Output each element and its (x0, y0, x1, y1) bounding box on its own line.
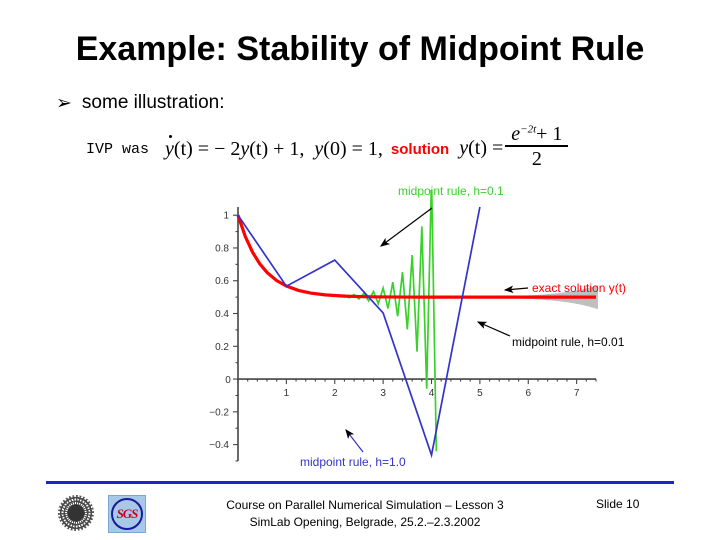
initial-condition: y(0) = 1, (314, 138, 383, 161)
sol-eq: (t) = (468, 137, 503, 159)
ode-body: (t) = − 2 (174, 138, 240, 160)
ic-body: (0) = 1, (323, 138, 383, 160)
stability-plot: 01234567 −0.4−0.20.20.40.60.81 (200, 190, 600, 475)
svg-text:7: 7 (574, 388, 580, 399)
equation-row: IVP was y(t) = − 2y(t) + 1, y(0) = 1, so… (86, 126, 570, 173)
sgs-emblem-logo-icon: SGS (108, 495, 146, 533)
footer-line-2: SimLab Opening, Belgrade, 25.2.–2.3.2002 (150, 514, 580, 531)
slide-number: Slide 10 (596, 497, 639, 511)
svg-text:5: 5 (477, 388, 483, 399)
bullet-illustration: ➢ some illustration: (56, 92, 224, 114)
num-e: e (511, 123, 520, 145)
solution-equation: y(t) =e−2t+ 12 (459, 126, 570, 173)
arrow-bullet-icon: ➢ (56, 94, 72, 113)
sgs-logo-text: SGS (111, 498, 143, 530)
svg-text:4: 4 (429, 388, 435, 399)
svg-text:1: 1 (223, 211, 229, 222)
svg-text:6: 6 (525, 388, 531, 399)
series-h10-curve (238, 207, 480, 455)
sphere-mesh-logo-icon (58, 495, 94, 531)
footer-rule (46, 481, 674, 484)
ode-ydot: y (165, 138, 174, 161)
solution-keyword: solution (391, 141, 449, 158)
svg-text:1: 1 (284, 388, 290, 399)
ivp-label: IVP was (86, 141, 149, 158)
fraction-numerator: e−2t+ 1 (505, 124, 568, 145)
annotation-exact: exact solution y(t) (532, 281, 626, 295)
page-title: Example: Stability of Midpoint Rule (0, 30, 720, 69)
footer-course-info: Course on Parallel Numerical Simulation … (150, 497, 580, 532)
num-plus-one: + 1 (536, 123, 562, 145)
series-h01-curve (238, 190, 436, 451)
svg-text:0.4: 0.4 (215, 309, 229, 320)
svg-text:0.8: 0.8 (215, 243, 229, 254)
plot-axes (233, 207, 596, 461)
ode-y2: y (240, 138, 249, 160)
svg-text:0.6: 0.6 (215, 276, 229, 287)
footer-line-1: Course on Parallel Numerical Simulation … (150, 497, 580, 514)
fraction-denominator: 2 (532, 147, 542, 171)
y-tick-labels: −0.4−0.20.20.40.60.81 (209, 211, 229, 451)
plot-svg: 01234567 −0.4−0.20.20.40.60.81 (200, 190, 600, 475)
svg-text:0: 0 (225, 375, 231, 386)
svg-text:−0.4: −0.4 (209, 440, 229, 451)
num-exponent: −2t (520, 123, 536, 135)
svg-text:0.2: 0.2 (215, 342, 229, 353)
ode-tail: (t) + 1, (249, 138, 304, 160)
svg-text:3: 3 (380, 388, 386, 399)
annotation-h001: midpoint rule, h=0.01 (512, 335, 624, 349)
bullet-label: some illustration: (82, 92, 225, 114)
annotation-h10: midpoint rule, h=1.0 (300, 455, 406, 469)
svg-text:−0.2: −0.2 (209, 407, 229, 418)
solution-fraction: e−2t+ 12 (505, 124, 568, 171)
series-h001-envelope (238, 215, 598, 309)
svg-text:2: 2 (332, 388, 338, 399)
annotation-h01: midpoint rule, h=0.1 (398, 184, 504, 198)
slide-canvas: Example: Stability of Midpoint Rule ➢ so… (0, 0, 720, 540)
ode-equation: y(t) = − 2y(t) + 1, (165, 138, 304, 161)
ic-y: y (314, 138, 323, 160)
sol-y: y (459, 137, 468, 159)
